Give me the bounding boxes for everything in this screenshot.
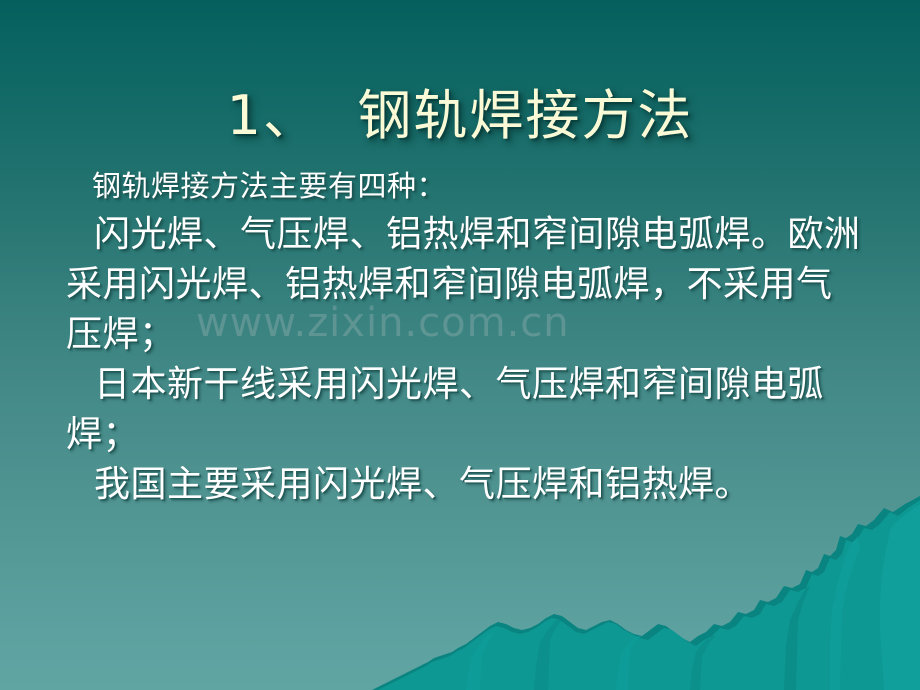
- body-paragraph-4: 我国主要采用闪光焊、气压焊和铝热焊。: [66, 460, 866, 510]
- slide-body: 钢轨焊接方法主要有四种： 闪光焊、气压焊、铝热焊和窄间隙电弧焊。欧洲采用闪光焊、…: [66, 162, 866, 510]
- body-paragraph-1: 钢轨焊接方法主要有四种：: [66, 162, 866, 210]
- slide-title: 1、 钢轨焊接方法: [0, 82, 920, 150]
- presentation-slide: www.zixin.com.cn 1、 钢轨焊接方法 钢轨焊接方法主要有四种： …: [0, 0, 920, 690]
- body-paragraph-3: 日本新干线采用闪光焊、气压焊和窄间隙电弧焊；: [66, 360, 866, 460]
- body-paragraph-2: 闪光焊、气压焊、铝热焊和窄间隙电弧焊。欧洲采用闪光焊、铝热焊和窄间隙电弧焊，不采…: [66, 210, 866, 360]
